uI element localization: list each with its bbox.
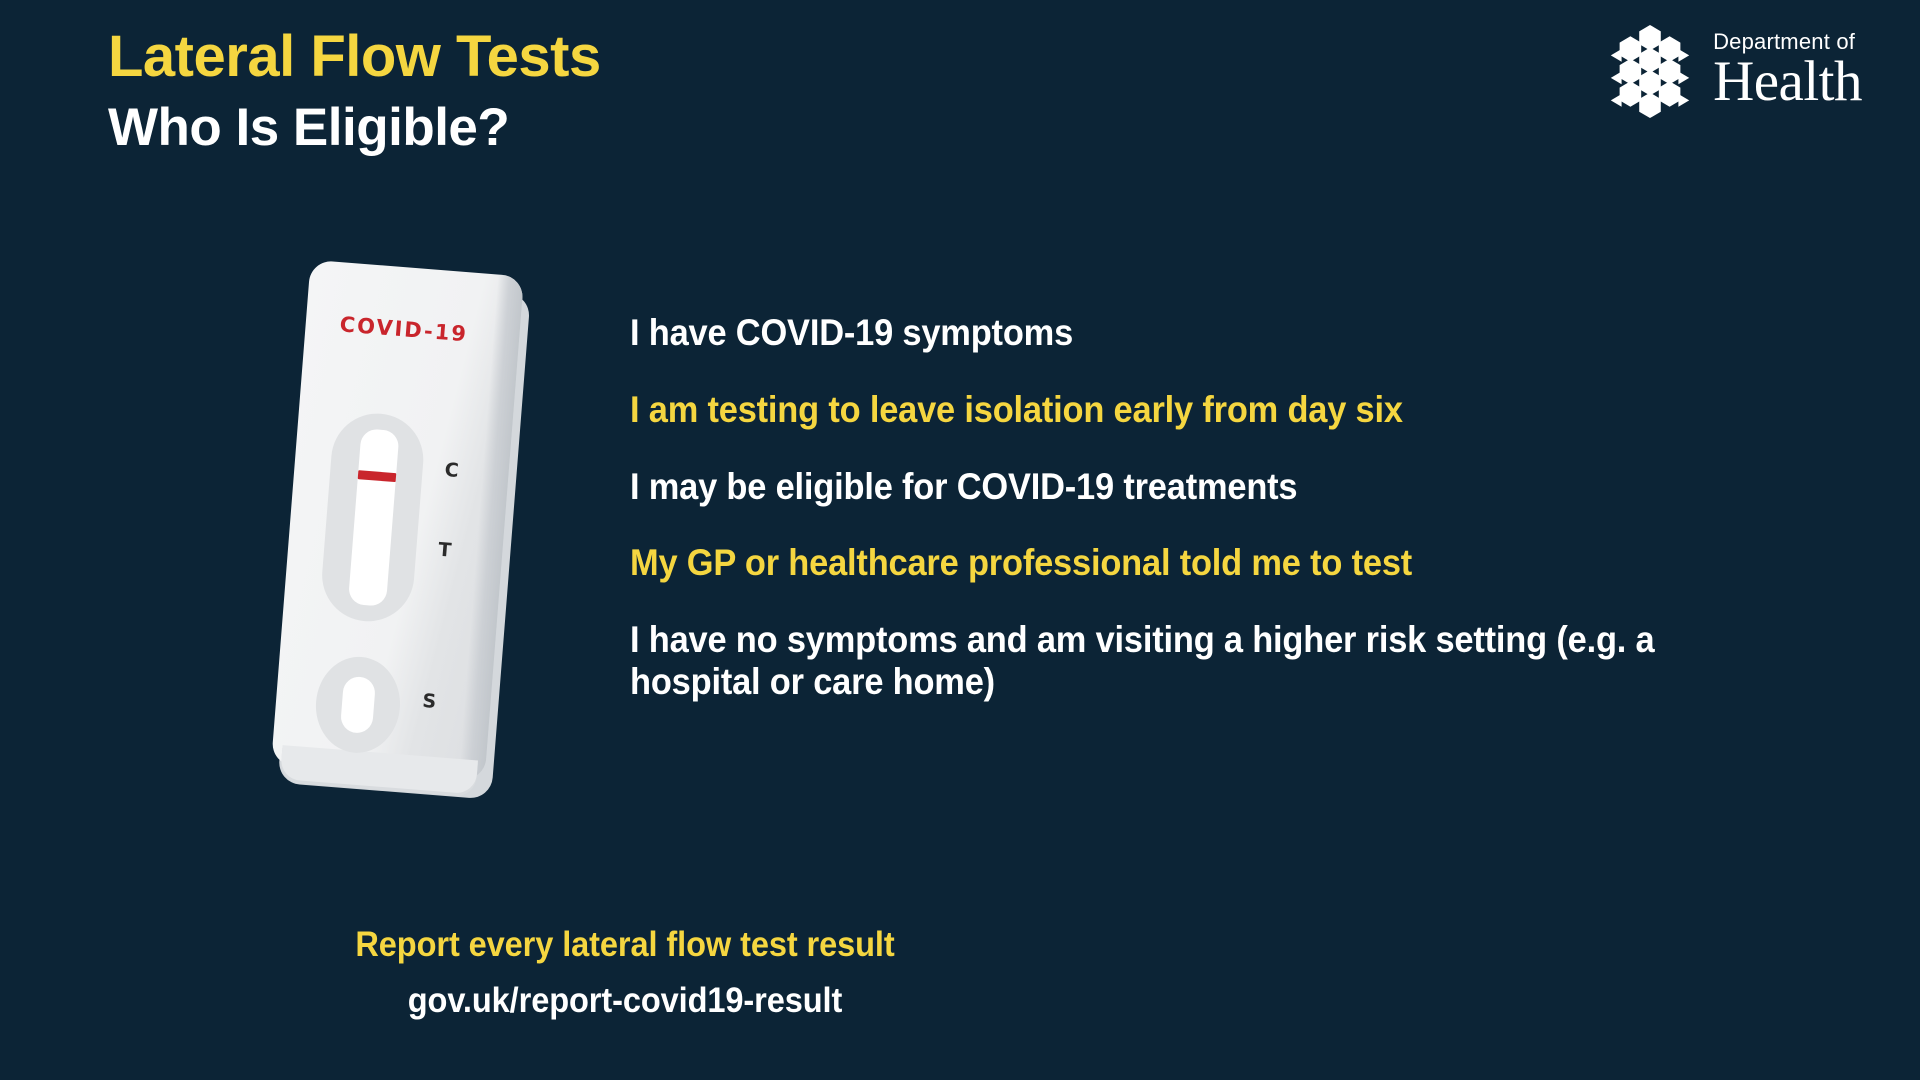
cassette-label-s: S <box>422 690 437 713</box>
cassette-brand-label: COVID-19 <box>339 312 469 346</box>
hexagon-honeycomb-icon <box>1601 23 1699 121</box>
page-subtitle: Who Is Eligible? <box>108 99 1008 157</box>
control-line-marker <box>358 470 397 482</box>
cassette-body: COVID-19 C T S <box>271 260 524 781</box>
eligibility-item-5: I have no symptoms and am visiting a hig… <box>630 619 1765 703</box>
cassette-label-c: C <box>444 459 460 482</box>
sample-well-hole <box>340 676 376 734</box>
test-cassette: COVID-19 C T S <box>270 260 540 796</box>
result-window <box>319 410 427 625</box>
footer-report-url: gov.uk/report-covid19-result <box>44 981 1207 1021</box>
header-block: Lateral Flow Tests Who Is Eligible? <box>108 26 1008 157</box>
cassette-label-t: T <box>438 539 453 562</box>
eligibility-list: I have COVID-19 symptoms I am testing to… <box>630 312 1850 703</box>
slide-canvas: Lateral Flow Tests Who Is Eligible? <box>0 0 1920 1080</box>
result-strip <box>348 428 400 606</box>
page-title: Lateral Flow Tests <box>108 26 1008 89</box>
footer-block: Report every lateral flow test result go… <box>0 925 1250 1021</box>
sample-well <box>312 654 403 756</box>
eligibility-item-3: I may be eligible for COVID-19 treatment… <box>630 466 1765 508</box>
eligibility-item-2: I am testing to leave isolation early fr… <box>630 389 1765 431</box>
dept-of-health-logo: Department of Health <box>1601 20 1862 124</box>
footer-report-message: Report every lateral flow test result <box>44 925 1207 965</box>
eligibility-item-1: I have COVID-19 symptoms <box>630 312 1765 354</box>
logo-line-health: Health <box>1713 55 1862 109</box>
lateral-flow-test-illustration: COVID-19 C T S <box>290 268 550 828</box>
eligibility-item-4: My GP or healthcare professional told me… <box>630 542 1765 584</box>
logo-wordmark: Department of Health <box>1713 31 1862 113</box>
